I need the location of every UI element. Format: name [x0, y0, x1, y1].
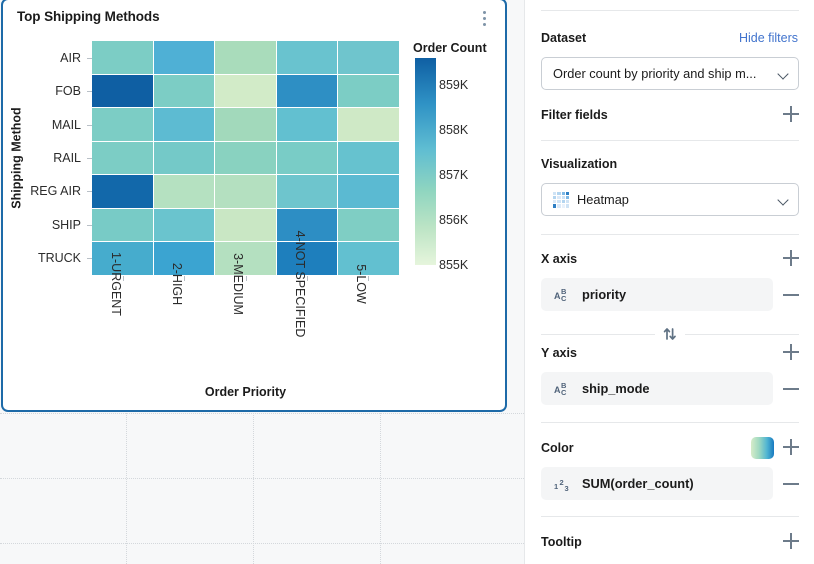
heatmap-cell[interactable]: [277, 209, 338, 242]
heatmap-cell[interactable]: [92, 41, 153, 74]
y-axis-tick-label: FOB: [3, 74, 88, 107]
heatmap-cell[interactable]: [277, 75, 338, 108]
heatmap-cell[interactable]: [154, 175, 215, 208]
heatmap-cell[interactable]: [154, 209, 215, 242]
config-sidebar: Dataset Hide filters Order count by prio…: [524, 0, 814, 564]
heatmap-cell[interactable]: [338, 142, 399, 175]
add-y-axis-field-plus-icon[interactable]: [781, 342, 801, 362]
dataset-select[interactable]: Order count by priority and ship m...: [541, 57, 799, 90]
heatmap-cell[interactable]: [215, 142, 276, 175]
heatmap-icon-cell: [562, 204, 565, 207]
visualization-section-label: Visualization: [541, 157, 617, 171]
x-axis-section-label: X axis: [541, 252, 577, 266]
heatmap-icon-cell: [553, 200, 556, 203]
heatmap-icon-cell: [553, 204, 556, 207]
heatmap-cell[interactable]: [92, 175, 153, 208]
y-axis-tick-label: AIR: [3, 41, 88, 74]
y-axis-tick-mark: [87, 158, 92, 159]
color-field-name: SUM(order_count): [576, 476, 694, 491]
divider: [541, 234, 799, 235]
canvas-grid-line: [0, 478, 524, 479]
heatmap-cell[interactable]: [338, 242, 399, 275]
x-axis-tick-mark: [184, 276, 185, 281]
heatmap-cell[interactable]: [338, 175, 399, 208]
x-axis-tick-mark: [368, 276, 369, 281]
heatmap-icon-cell: [557, 196, 560, 199]
y-axis-tick-label: REG AIR: [3, 175, 88, 208]
x-axis-field-pill[interactable]: ABC priority: [541, 278, 773, 311]
y-axis-field-pill[interactable]: ABC ship_mode: [541, 372, 773, 405]
legend-title: Order Count: [413, 41, 487, 55]
x-axis-tick-cell: 5-LOW: [338, 278, 399, 388]
legend-tick-label: 857K: [439, 168, 468, 182]
heatmap-cell[interactable]: [215, 41, 276, 74]
dashboard-canvas[interactable]: Top Shipping Methods Shipping Method AIR…: [0, 0, 524, 564]
heatmap-icon: [553, 192, 569, 208]
heatmap-cell[interactable]: [277, 108, 338, 141]
add-filter-field-plus-icon[interactable]: [781, 104, 801, 124]
canvas-grid-line: [0, 543, 524, 544]
add-tooltip-field-plus-icon[interactable]: [781, 531, 801, 551]
add-color-field-plus-icon[interactable]: [781, 437, 801, 457]
visualization-select[interactable]: Heatmap: [541, 183, 799, 216]
hide-filters-link[interactable]: Hide filters: [739, 31, 798, 45]
divider: [541, 334, 655, 335]
heatmap-cell[interactable]: [154, 108, 215, 141]
x-axis-tick-label: 5-LOW: [354, 264, 368, 304]
y-axis-tick-mark: [87, 191, 92, 192]
x-axis-tick-label: 4-NOT SPECIFIED: [293, 231, 307, 338]
heatmap-icon-cell: [557, 192, 560, 195]
x-axis-tick-mark: [307, 276, 308, 281]
heatmap-icon-cell: [562, 200, 565, 203]
heatmap-icon-cell: [557, 204, 560, 207]
color-section-label: Color: [541, 441, 574, 455]
legend-tick-label: 858K: [439, 123, 468, 137]
heatmap-cell[interactable]: [92, 75, 153, 108]
heatmap-cell[interactable]: [277, 175, 338, 208]
x-axis-title: Order Priority: [92, 385, 399, 399]
color-gradient-swatch[interactable]: [751, 437, 774, 459]
y-axis-tick-mark: [87, 125, 92, 126]
y-axis-tick-label: SHIP: [3, 208, 88, 241]
heatmap-cell[interactable]: [215, 108, 276, 141]
y-axis-tick-mark: [87, 258, 92, 259]
y-axis-tick-mark: [87, 225, 92, 226]
y-axis-tick-label: RAIL: [3, 141, 88, 174]
heatmap-cell[interactable]: [92, 108, 153, 141]
swap-vertical-arrows-icon[interactable]: [660, 325, 680, 343]
dataset-select-value: Order count by priority and ship m...: [542, 66, 756, 81]
abc-string-type-icon: ABC: [554, 380, 576, 398]
canvas-grid-line: [0, 413, 524, 414]
tooltip-section-label: Tooltip: [541, 535, 582, 549]
x-axis-tick-label: 1-URGENT: [109, 252, 123, 316]
x-axis-tick-cell: 4-NOT SPECIFIED: [276, 278, 337, 388]
chart-card-top-shipping-methods[interactable]: Top Shipping Methods Shipping Method AIR…: [1, 0, 507, 412]
divider: [541, 10, 799, 11]
visualization-select-value: Heatmap: [569, 192, 629, 207]
y-axis-tick-label: MAIL: [3, 108, 88, 141]
abc-string-type-icon: ABC: [554, 286, 576, 304]
heatmap-cell[interactable]: [338, 75, 399, 108]
heatmap-cell[interactable]: [277, 41, 338, 74]
heatmap-icon-cell: [553, 196, 556, 199]
add-x-axis-field-plus-icon[interactable]: [781, 248, 801, 268]
divider: [541, 140, 799, 141]
heatmap-cell[interactable]: [215, 242, 276, 275]
filter-fields-label: Filter fields: [541, 108, 608, 122]
chevron-down-icon: [777, 194, 788, 205]
chart-title: Top Shipping Methods: [17, 9, 159, 24]
heatmap-cell[interactable]: [215, 175, 276, 208]
heatmap-cell[interactable]: [338, 41, 399, 74]
x-axis-tick-cell: 3-MEDIUM: [215, 278, 276, 388]
dataset-section-label: Dataset: [541, 31, 586, 45]
remove-x-axis-field-minus-icon[interactable]: [781, 285, 801, 305]
legend-gradient-bar: [415, 58, 436, 265]
legend-tick-label: 859K: [439, 78, 468, 92]
x-axis-tick-labels: 1-URGENT2-HIGH3-MEDIUM4-NOT SPECIFIED5-L…: [92, 278, 399, 388]
legend-tick-label: 856K: [439, 213, 468, 227]
heatmap-cell[interactable]: [154, 41, 215, 74]
chart-kebab-menu-icon[interactable]: [477, 11, 491, 29]
heatmap-cell[interactable]: [154, 75, 215, 108]
divider: [541, 422, 799, 423]
heatmap-cell[interactable]: [277, 142, 338, 175]
color-field-pill[interactable]: 123 SUM(order_count): [541, 467, 773, 500]
y-axis-field-name: ship_mode: [576, 381, 650, 396]
remove-color-field-minus-icon[interactable]: [781, 474, 801, 494]
x-axis-tick-label: 2-HIGH: [170, 263, 184, 305]
heatmap-cell[interactable]: [154, 142, 215, 175]
heatmap-cell[interactable]: [92, 209, 153, 242]
heatmap-cell[interactable]: [215, 209, 276, 242]
y-axis-tick-label: TRUCK: [3, 242, 88, 275]
heatmap-icon-cell: [562, 192, 565, 195]
dashboard-editor: Top Shipping Methods Shipping Method AIR…: [0, 0, 814, 564]
heatmap-cell-grid: [92, 41, 399, 275]
x-axis-tick-mark: [123, 276, 124, 281]
chevron-down-icon: [777, 68, 788, 79]
y-axis-section-label: Y axis: [541, 346, 577, 360]
y-axis-tick-labels: AIRFOBMAILRAILREG AIRSHIPTRUCK: [3, 41, 88, 275]
x-axis-tick-mark: [246, 276, 247, 281]
legend-tick-label: 855K: [439, 258, 468, 272]
x-axis-tick-label: 3-MEDIUM: [231, 253, 245, 315]
heatmap-cell[interactable]: [338, 209, 399, 242]
heatmap-icon-cell: [562, 196, 565, 199]
remove-y-axis-field-minus-icon[interactable]: [781, 379, 801, 399]
divider: [541, 516, 799, 517]
x-axis-tick-cell: 1-URGENT: [92, 278, 153, 388]
heatmap-cell[interactable]: [92, 142, 153, 175]
swap-axes-row: [541, 327, 799, 341]
y-axis-tick-mark: [87, 91, 92, 92]
heatmap-cell[interactable]: [215, 75, 276, 108]
heatmap-icon-cell: [557, 200, 560, 203]
legend-tick-labels: 859K858K857K856K855K: [439, 58, 499, 265]
x-axis-tick-cell: 2-HIGH: [153, 278, 214, 388]
x-axis-field-name: priority: [576, 287, 626, 302]
y-axis-tick-mark: [87, 58, 92, 59]
numeric-123-type-icon: 123: [554, 475, 576, 493]
heatmap-cell[interactable]: [277, 242, 338, 275]
heatmap-cell[interactable]: [338, 108, 399, 141]
divider: [685, 334, 799, 335]
heatmap-plot-area[interactable]: [92, 41, 399, 275]
heatmap-icon-cell: [553, 192, 556, 195]
